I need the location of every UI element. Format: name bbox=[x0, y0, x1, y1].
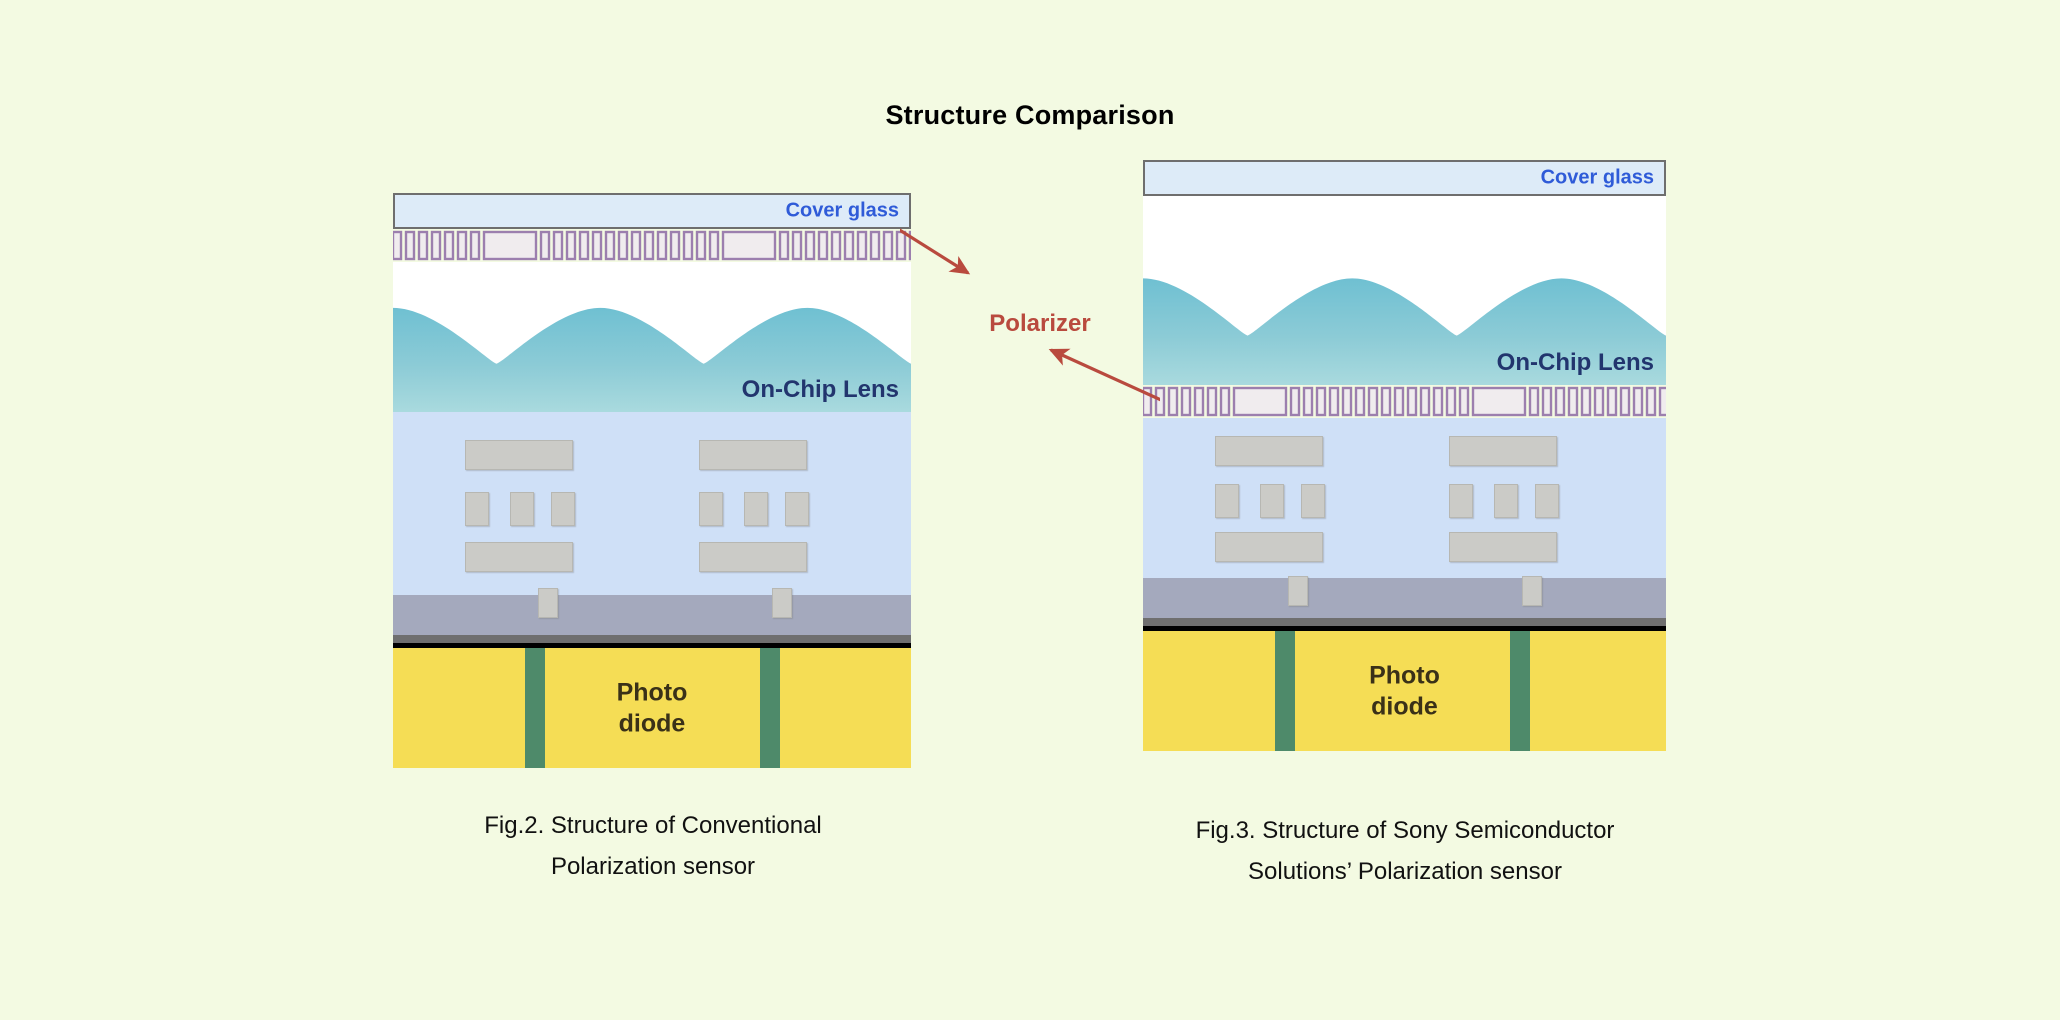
conventional-on-chip-lens-layer: On-Chip Lens bbox=[393, 285, 911, 412]
sony-on-chip-lens-layer: On-Chip Lens bbox=[1143, 255, 1666, 385]
metal-via bbox=[785, 492, 809, 526]
sony-white-gap bbox=[1143, 196, 1666, 255]
metal-via bbox=[1215, 484, 1239, 518]
sony-substrate-dark-band bbox=[1143, 618, 1666, 626]
metal-via bbox=[699, 492, 723, 526]
figure-conventional-sensor: Cover glass On-Chip Lens bbox=[393, 193, 911, 768]
metal-wire bbox=[465, 542, 573, 572]
cover-glass-label: Cover glass bbox=[786, 200, 899, 223]
metal-via bbox=[1260, 484, 1284, 518]
photodiode-label-line-1: Photo bbox=[393, 678, 911, 709]
caption-line-1: Fig.3. Structure of Sony Semiconductor bbox=[1085, 810, 1725, 851]
caption-line-2: Polarization sensor bbox=[343, 846, 963, 887]
metal-wire bbox=[1215, 436, 1323, 466]
polarizer-grating-icon bbox=[1143, 385, 1666, 418]
metal-contact bbox=[1288, 576, 1308, 606]
conventional-layer-stack: Cover glass On-Chip Lens bbox=[393, 193, 911, 768]
metal-via bbox=[1301, 484, 1325, 518]
metal-via bbox=[1449, 484, 1473, 518]
metal-contact bbox=[538, 588, 558, 618]
metal-via bbox=[744, 492, 768, 526]
conventional-cover-glass-layer: Cover glass bbox=[393, 193, 911, 229]
on-chip-lens-label: On-Chip Lens bbox=[1497, 349, 1654, 377]
metal-contact bbox=[772, 588, 792, 618]
metal-contact bbox=[1522, 576, 1542, 606]
figure-sony-sensor: Cover glass On-Chip Lens bbox=[1143, 160, 1666, 751]
metal-wire bbox=[465, 440, 573, 470]
polarizer-grating-icon bbox=[393, 229, 911, 262]
sony-substrate-band bbox=[1143, 578, 1666, 618]
caption-sony: Fig.3. Structure of Sony Semiconductor S… bbox=[1085, 810, 1725, 893]
conventional-photodiode-layer: Photo diode bbox=[393, 648, 911, 768]
page-title: Structure Comparison bbox=[0, 100, 2060, 131]
metal-via bbox=[465, 492, 489, 526]
metal-wire bbox=[1449, 436, 1557, 466]
photodiode-label-line-2: diode bbox=[393, 708, 911, 739]
sony-wiring-layer bbox=[1143, 418, 1666, 578]
metal-via bbox=[551, 492, 575, 526]
photodiode-label: Photo diode bbox=[393, 678, 911, 739]
caption-conventional: Fig.2. Structure of Conventional Polariz… bbox=[343, 805, 963, 888]
conventional-substrate-dark-band bbox=[393, 635, 911, 643]
metal-wire bbox=[699, 542, 807, 572]
metal-via bbox=[1535, 484, 1559, 518]
polarizer-annotation-label: Polarizer bbox=[955, 310, 1125, 338]
conventional-substrate-band bbox=[393, 595, 911, 635]
conventional-polarizer-strip bbox=[393, 229, 911, 262]
photodiode-label-line-2: diode bbox=[1143, 691, 1666, 722]
metal-wire bbox=[1449, 532, 1557, 562]
caption-line-2: Solutions’ Polarization sensor bbox=[1085, 851, 1725, 892]
photodiode-label: Photo diode bbox=[1143, 661, 1666, 722]
metal-wire bbox=[699, 440, 807, 470]
conventional-white-gap bbox=[393, 262, 911, 285]
sony-polarizer-strip bbox=[1143, 385, 1666, 418]
metal-wire bbox=[1215, 532, 1323, 562]
sony-cover-glass-layer: Cover glass bbox=[1143, 160, 1666, 196]
sony-photodiode-layer: Photo diode bbox=[1143, 631, 1666, 751]
metal-via bbox=[510, 492, 534, 526]
metal-via bbox=[1494, 484, 1518, 518]
photodiode-label-line-1: Photo bbox=[1143, 661, 1666, 692]
conventional-wiring-layer bbox=[393, 412, 911, 595]
caption-line-1: Fig.2. Structure of Conventional bbox=[343, 805, 963, 846]
sony-layer-stack: Cover glass On-Chip Lens bbox=[1143, 160, 1666, 751]
cover-glass-label: Cover glass bbox=[1541, 167, 1654, 190]
on-chip-lens-label: On-Chip Lens bbox=[742, 376, 899, 404]
